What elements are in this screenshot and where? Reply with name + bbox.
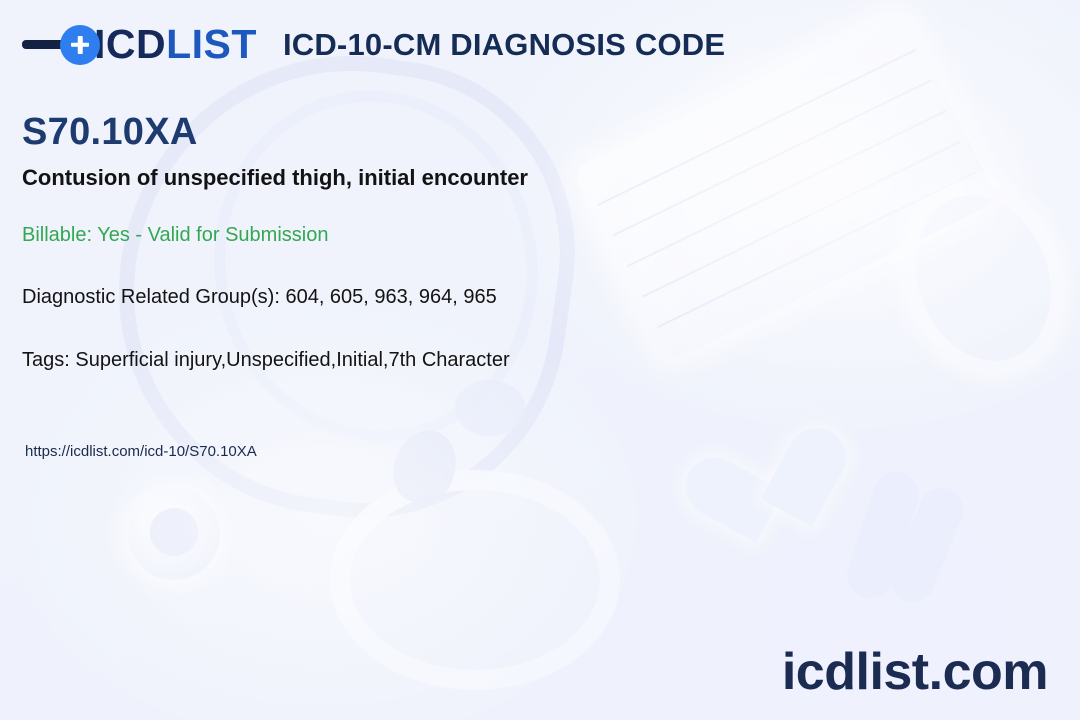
- source-url[interactable]: https://icdlist.com/icd-10/S70.10XA: [25, 443, 257, 461]
- diagnosis-description: Contusion of unspecified thigh, initial …: [22, 165, 528, 191]
- diagnostic-related-groups: Diagnostic Related Group(s): 604, 605, 9…: [22, 285, 497, 309]
- billable-status: Billable: Yes - Valid for Submission: [22, 223, 328, 247]
- tags-list: Tags: Superficial injury,Unspecified,Ini…: [22, 348, 510, 372]
- icdlist-logo[interactable]: ICDLIST: [22, 24, 257, 65]
- logo-text-icd: ICD: [94, 21, 166, 67]
- plus-circle-icon: [60, 25, 100, 65]
- page-title: ICD-10-CM DIAGNOSIS CODE: [283, 27, 725, 63]
- diagnosis-code: S70.10XA: [22, 112, 198, 154]
- header: ICDLIST ICD-10-CM DIAGNOSIS CODE: [22, 24, 725, 65]
- icd-code-card: ICDLIST ICD-10-CM DIAGNOSIS CODE S70.10X…: [0, 0, 1080, 720]
- brand-watermark: icdlist.com: [782, 646, 1048, 698]
- logo-text-list: LIST: [166, 21, 257, 67]
